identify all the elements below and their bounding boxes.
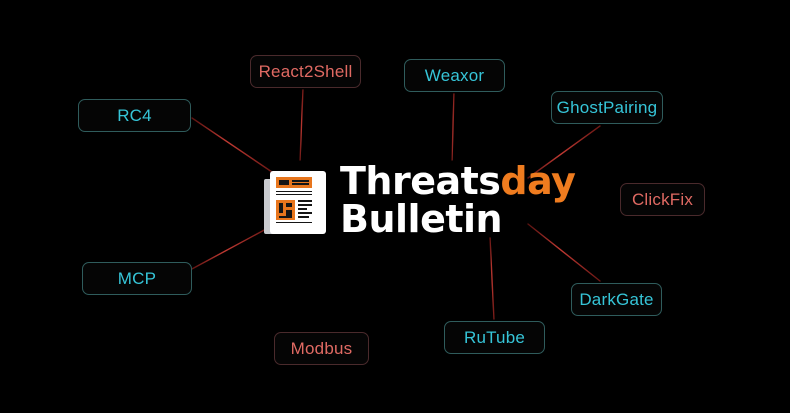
node-react2shell[interactable]: React2Shell	[250, 55, 361, 88]
connector-rutube	[490, 238, 494, 319]
node-rc4[interactable]: RC4	[78, 99, 191, 132]
node-label: RC4	[117, 107, 152, 124]
logo-text-day: day	[500, 159, 575, 203]
node-label: ClickFix	[632, 191, 693, 208]
logo-text-bulletin: Bulletin	[340, 197, 502, 241]
node-rutube[interactable]: RuTube	[444, 321, 545, 354]
newspaper-icon	[258, 165, 330, 237]
node-label: GhostPairing	[557, 99, 658, 116]
connector-mcp	[190, 228, 268, 270]
node-label: Modbus	[291, 340, 353, 357]
node-darkgate[interactable]: DarkGate	[571, 283, 662, 316]
connector-weaxor	[452, 94, 454, 160]
node-mcp[interactable]: MCP	[82, 262, 192, 295]
node-label: DarkGate	[579, 291, 653, 308]
node-clickfix[interactable]: ClickFix	[620, 183, 705, 216]
node-label: React2Shell	[259, 63, 353, 80]
node-label: RuTube	[464, 329, 525, 346]
diagram-canvas: Threatsday Bulletin React2ShellWeaxorGho…	[0, 0, 790, 413]
node-ghostpairing[interactable]: GhostPairing	[551, 91, 663, 124]
connector-react2shell	[300, 90, 303, 160]
node-label: Weaxor	[425, 67, 484, 84]
node-weaxor[interactable]: Weaxor	[404, 59, 505, 92]
threatsday-bulletin-logo: Threatsday Bulletin	[258, 158, 543, 243]
logo-wordmark: Threatsday Bulletin	[340, 163, 575, 237]
node-label: MCP	[118, 270, 156, 287]
node-modbus[interactable]: Modbus	[274, 332, 369, 365]
